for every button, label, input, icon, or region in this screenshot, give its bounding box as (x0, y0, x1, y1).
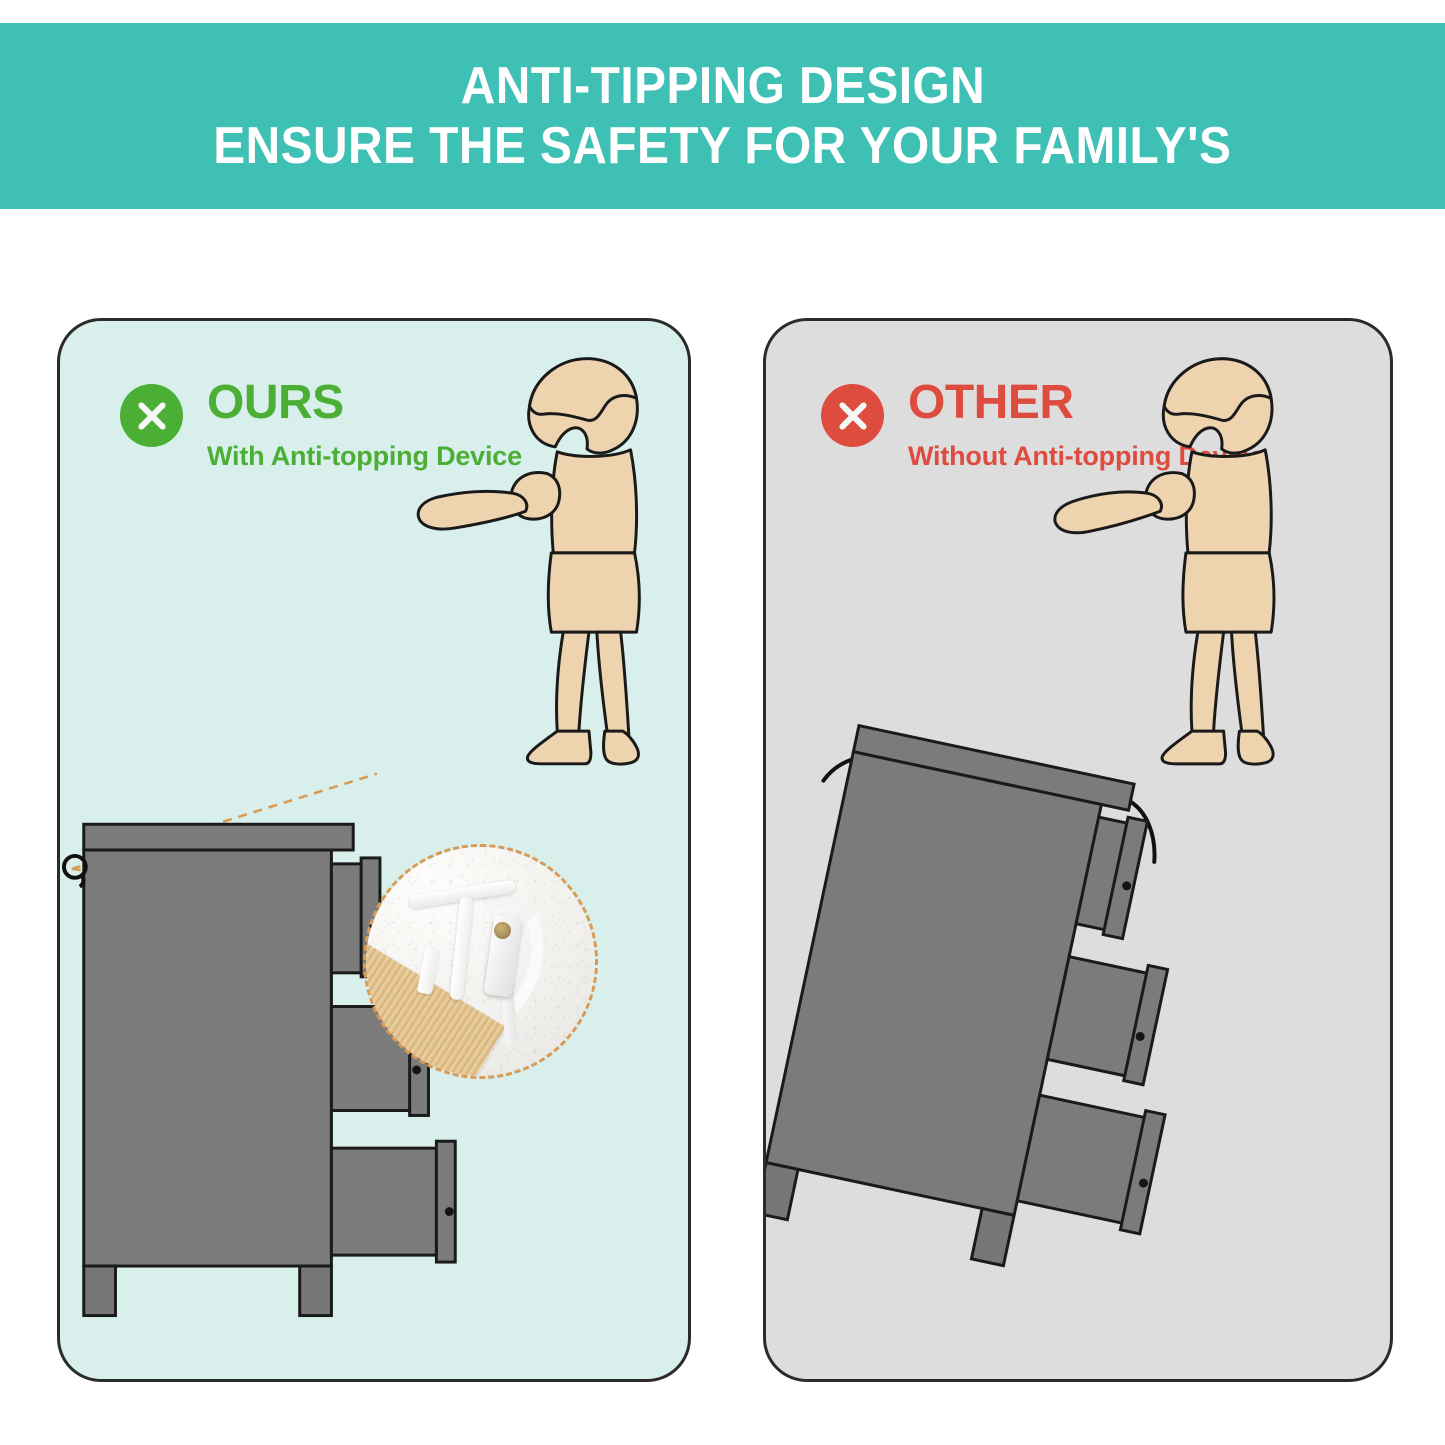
header-banner: ANTI-TIPPING DESIGN ENSURE THE SAFETY FO… (0, 23, 1445, 209)
child-figure-pulling-drawer (1055, 359, 1274, 764)
anti-tip-strap-photo (363, 844, 598, 1079)
panel-ours: OURS With Anti-topping Device (57, 318, 691, 1382)
banner-line-2: ENSURE THE SAFETY FOR YOUR FAMILY'S (213, 116, 1231, 176)
dresser-tipping (766, 726, 1231, 1292)
banner-line-1: ANTI-TIPPING DESIGN (460, 56, 984, 116)
panel-other: OTHER Without Anti-topping Device (763, 318, 1393, 1382)
infographic-canvas: ANTI-TIPPING DESIGN ENSURE THE SAFETY FO… (0, 0, 1445, 1445)
strap-photo-content (363, 844, 598, 1079)
panel-other-artwork (766, 321, 1390, 1379)
child-figure-pulling-drawer (418, 359, 639, 764)
anchor-screw-icon (494, 922, 511, 939)
